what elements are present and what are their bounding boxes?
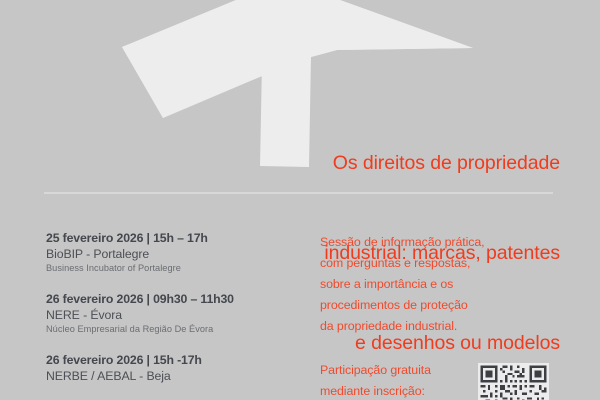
session-venue: BioBIP - Portalegre [46,246,301,262]
description-line-1: Sessão de informação prática, [320,232,570,253]
description-line-3: sobre a importância e os [320,274,570,295]
session-datetime: 25 fevereiro 2026 | 15h – 17h [46,230,301,246]
divider [44,192,553,194]
poster-canvas: Os direitos de propriedade industrial: m… [0,0,600,400]
description-block: Sessão de informação prática, com pergun… [320,232,570,337]
session-datetime: 26 fevereiro 2026 | 09h30 – 11h30 [46,291,301,307]
session-item: 26 fevereiro 2026 | 15h -17h NERBE / AEB… [46,352,301,384]
session-list: 25 fevereiro 2026 | 15h – 17h BioBIP - P… [46,230,301,400]
session-venue-subtitle: Business Incubator of Portalegre [46,262,301,275]
description-line-4: procedimentos de proteção [320,295,570,316]
session-venue: NERE - Évora [46,307,301,323]
description-line-5: da propriedade industrial. [320,316,570,337]
session-item: 26 fevereiro 2026 | 09h30 – 11h30 NERE -… [46,291,301,336]
session-datetime: 26 fevereiro 2026 | 15h -17h [46,352,301,368]
description-line-2: com perguntas e respostas, [320,253,570,274]
signup-line-2: mediante inscrição: [320,381,480,400]
qr-code-image [478,363,549,400]
qr-code[interactable] [478,363,549,400]
signup-line-1: Participação gratuita [320,360,480,381]
session-item: 25 fevereiro 2026 | 15h – 17h BioBIP - P… [46,230,301,275]
session-venue: NERBE / AEBAL - Beja [46,368,301,384]
title-line-1: Os direitos de propriedade [0,148,560,178]
session-venue-subtitle: Núcleo Empresarial da Região De Évora [46,323,301,336]
signup-block: Participação gratuita mediante inscrição… [320,360,480,400]
